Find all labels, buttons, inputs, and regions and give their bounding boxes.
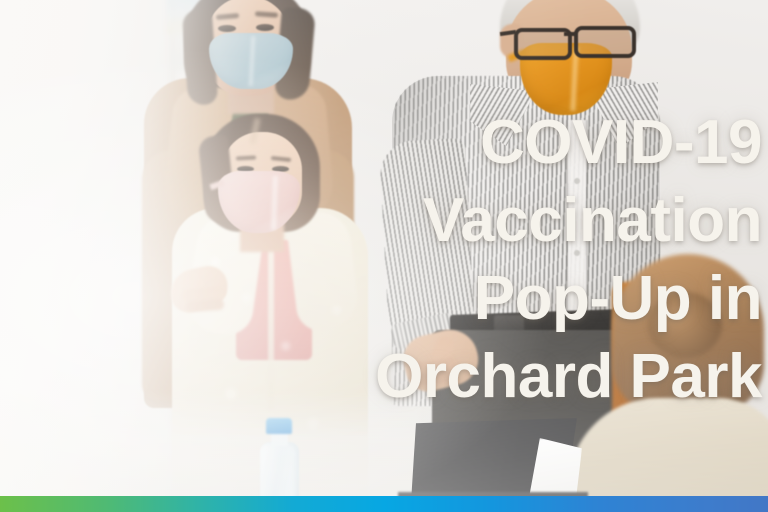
man-eyeglasses-icon bbox=[512, 28, 634, 54]
woman-eye-right bbox=[256, 24, 274, 31]
bottom-gradient-bar bbox=[0, 496, 768, 512]
eyeglass-lens-right bbox=[574, 26, 636, 58]
water-bottle-cap bbox=[266, 418, 292, 434]
headline-line-2: Vaccination bbox=[122, 182, 762, 260]
headline-line-1: COVID-19 bbox=[122, 104, 762, 182]
eyeglass-bridge bbox=[564, 32, 576, 36]
water-bottle-neck bbox=[271, 432, 288, 446]
vaccination-banner: COVID-19 Vaccination Pop-Up in Orchard P… bbox=[0, 0, 768, 512]
headline-line-4: Orchard Park bbox=[122, 338, 762, 416]
headline-line-3: Pop-Up in bbox=[122, 260, 762, 338]
woman-eye-left bbox=[218, 25, 236, 32]
banner-headline: COVID-19 Vaccination Pop-Up in Orchard P… bbox=[122, 104, 762, 416]
